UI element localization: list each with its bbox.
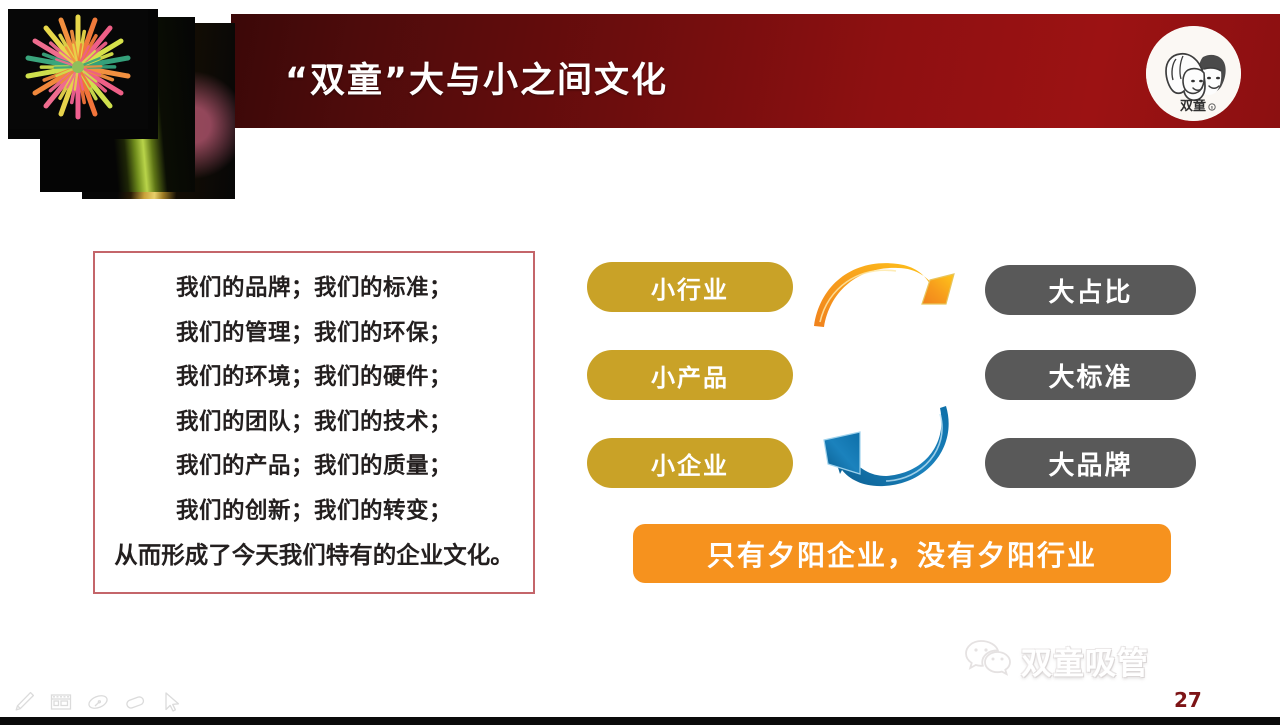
pill-small-enterprise: 小企业 [587, 438, 793, 488]
company-logo: 双童 R [1146, 26, 1241, 121]
culture-line: 我们的创新；我们的转变； [95, 489, 533, 534]
pen-tool-icon[interactable] [12, 690, 36, 714]
logo-caption: 双童 [1180, 98, 1206, 114]
presentation-slide: “双童”大与小之间文化 双童 R 我们的品牌；我们的标准； [0, 0, 1280, 717]
highlighter-tool-icon[interactable] [86, 690, 110, 714]
culture-line: 我们的产品；我们的质量； [95, 444, 533, 489]
culture-line: 我们的团队；我们的技术； [95, 400, 533, 445]
culture-statement-box: 我们的品牌；我们的标准； 我们的管理；我们的环保； 我们的环境；我们的硬件； 我… [93, 251, 535, 594]
svg-text:R: R [1211, 105, 1214, 110]
wechat-icon [963, 637, 1013, 683]
slide-view-tool-icon[interactable] [49, 690, 73, 714]
arrow-big-to-small-icon [810, 398, 970, 496]
straw-burst-graphic [8, 9, 158, 139]
pill-small-product: 小产品 [587, 350, 793, 400]
slogan-banner: 只有夕阳企业，没有夕阳行业 [633, 524, 1171, 583]
pill-big-share: 大占比 [985, 265, 1196, 315]
pill-big-brand: 大品牌 [985, 438, 1196, 488]
page-title: “双童”大与小之间文化 [285, 52, 668, 103]
culture-line: 我们的环境；我们的硬件； [95, 355, 533, 400]
pill-small-industry: 小行业 [587, 262, 793, 312]
culture-conclusion-line: 从而形成了今天我们特有的企业文化。 [95, 533, 533, 578]
culture-line: 我们的管理；我们的环保； [95, 311, 533, 356]
arrow-small-to-big-icon [806, 248, 966, 338]
presentation-ink-toolbar [0, 686, 1280, 717]
eraser-tool-icon[interactable] [123, 690, 147, 714]
screen-bottom-edge [0, 717, 1280, 725]
colorful-straws-burst-photo [8, 9, 158, 139]
cursor-tool-icon[interactable] [160, 690, 184, 714]
pill-big-standard: 大标准 [985, 350, 1196, 400]
watermark-text: 双童吸管 [1021, 638, 1149, 683]
wechat-watermark: 双童吸管 [963, 637, 1149, 683]
culture-line: 我们的品牌；我们的标准； [95, 266, 533, 311]
